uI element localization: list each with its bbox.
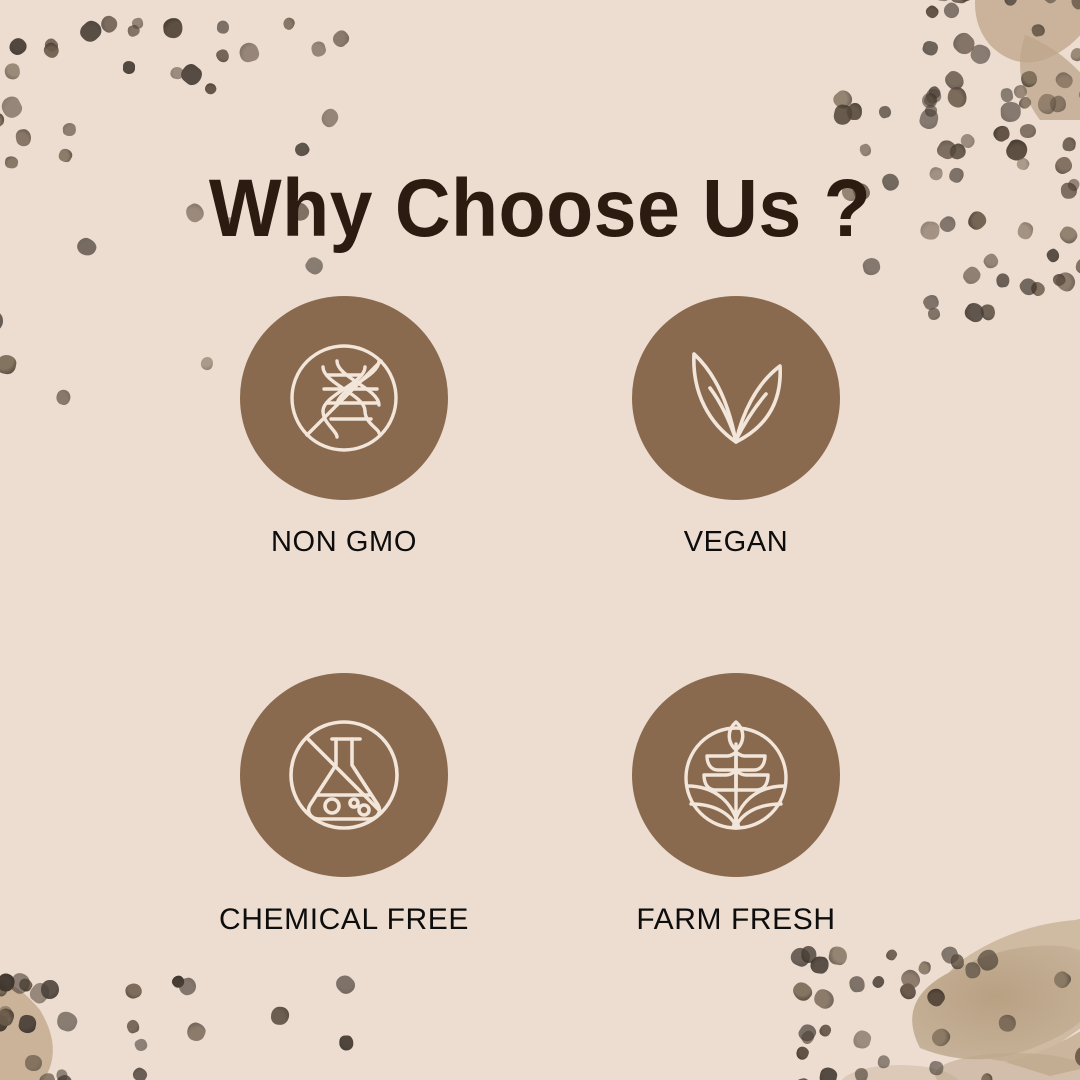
peppercorn [996,273,1010,288]
peppercorn [7,970,34,997]
feature-label-farm-fresh: FARM FRESH [636,903,835,937]
peppercorn [1003,136,1031,164]
peppercorn [1067,178,1080,193]
peppercorn [76,18,104,46]
peppercorn [293,140,312,158]
peppercorn [799,1028,816,1045]
peppercorn [1051,969,1073,991]
page-title: Why Choose Us ? [32,168,1047,250]
peppercorn [25,1054,43,1071]
peppercorn [123,981,144,1001]
peppercorn [810,956,829,975]
peppercorn [0,1006,13,1021]
peppercorn [332,972,357,997]
peppercorn [318,106,341,130]
peppercorn [948,0,969,4]
peppercorn [801,946,817,964]
peppercorn [853,1067,869,1080]
peppercorn [928,1059,945,1076]
peppercorn [862,257,882,277]
peppercorn [0,1054,1,1071]
peppercorn [1002,0,1018,7]
peppercorn [1048,93,1069,114]
peppercorn [54,1009,79,1034]
peppercorn [0,1006,16,1028]
peppercorn [876,1054,891,1070]
peppercorn [981,251,1000,270]
peppercorn [238,41,261,64]
peppercorn [947,141,967,161]
peppercorn [919,108,941,131]
peppercorn [959,132,978,151]
peppercorn [340,1035,354,1050]
peppercorn [203,81,219,97]
peppercorn [123,61,136,74]
peppercorn [162,17,183,39]
peppercorn [973,946,1001,974]
peppercorn [170,66,185,81]
peppercorn [184,1021,207,1044]
peppercorn [796,1022,818,1045]
peppercorn [303,255,326,277]
peppercorn [125,1018,141,1035]
peppercorn [918,960,932,975]
peppercorn [832,104,853,127]
badge-non-gmo [240,296,448,500]
peppercorn [131,1066,149,1080]
peppercorn [1012,83,1029,101]
feature-label-chemical-free: CHEMICAL FREE [219,903,469,937]
peppercorn [951,954,965,969]
peppercorn [946,86,968,109]
peppercorn [939,945,960,966]
peppercorn [851,1029,872,1051]
peppercorn [847,103,862,120]
peppercorn [1042,0,1061,6]
peppercorn [924,87,943,105]
feature-row-1: NON GMO VEGAN [0,296,1080,559]
peppercorn [1072,1045,1080,1071]
feature-label-vegan: VEGAN [684,526,789,559]
feature-farm-fresh[interactable]: FARM FRESH [630,673,842,937]
peppercorn [965,962,982,979]
peppercorn [991,124,1012,145]
peppercorn [885,947,899,962]
peppercorn [1052,155,1075,178]
peppercorn [57,147,75,165]
peppercorn [1070,47,1080,62]
feature-row-2: CHEMICAL FREE [0,673,1080,937]
peppercorn [217,20,230,34]
wheat-field-icon [669,708,803,842]
peppercorn [54,1073,73,1080]
two-leaves-icon [670,332,802,464]
peppercorn [43,37,60,54]
peppercorn [929,1026,953,1050]
peppercorn [831,87,856,112]
peppercorn [789,979,814,1004]
peppercorn [133,1037,149,1053]
wooden-spoon-top-right [930,0,1080,120]
peppercorn [878,104,893,119]
why-choose-us-poster: Why Choose Us ? [0,0,1080,1080]
wooden-spoon-bottom-left [0,940,80,1080]
peppercorn [899,966,924,991]
peppercorn [927,85,943,101]
peppercorn [3,62,21,81]
no-gmo-dna-icon [279,333,409,463]
peppercorn [0,1013,11,1034]
peppercorn [922,91,939,108]
peppercorn [1018,68,1039,89]
peppercorn [924,986,948,1010]
badge-vegan [632,296,840,500]
peppercorn [41,980,60,1000]
peppercorn [131,17,144,30]
feature-vegan[interactable]: VEGAN [630,296,842,559]
feature-grid: NON GMO VEGAN [0,296,1080,937]
peppercorn [0,112,5,128]
peppercorn [6,35,29,58]
badge-farm-fresh [632,673,840,877]
peppercorn [26,980,53,1007]
peppercorn [271,1006,290,1025]
badge-chemical-free [240,673,448,877]
peppercorn [17,977,35,994]
peppercorn [979,1072,994,1080]
peppercorn [1053,269,1079,295]
feature-non-gmo[interactable]: NON GMO [238,296,450,559]
peppercorn [4,155,19,169]
peppercorn [37,1072,56,1080]
peppercorn [310,40,328,58]
peppercorn [818,1067,838,1080]
peppercorn [898,981,918,1001]
peppercorn [871,974,887,990]
peppercorn [126,23,141,37]
peppercorn [330,27,353,49]
peppercorn [922,92,937,107]
peppercorn [63,122,77,136]
peppercorn [924,104,939,119]
feature-chemical-free[interactable]: CHEMICAL FREE [238,673,450,937]
peppercorn [997,1013,1016,1032]
peppercorn [934,0,952,2]
peppercorn [15,128,33,147]
peppercorn [788,945,813,969]
peppercorn [949,29,978,58]
peppercorn [0,981,10,999]
peppercorn [1061,183,1077,199]
peppercorn [794,1045,810,1061]
peppercorn [0,973,15,991]
peppercorn [968,42,992,66]
peppercorn [281,16,296,32]
peppercorn [1057,224,1080,247]
peppercorn [935,138,959,162]
peppercorn [924,4,941,21]
peppercorn [1037,93,1058,115]
peppercorn [178,61,205,88]
peppercorn [941,0,962,21]
peppercorn [1017,94,1033,110]
peppercorn [55,1068,69,1080]
peppercorn [170,974,187,991]
peppercorn [999,87,1014,103]
peppercorn [0,56,3,75]
peppercorn [1050,271,1067,288]
peppercorn [1075,257,1080,275]
peppercorn [817,1023,833,1039]
peppercorn [1019,123,1037,139]
peppercorn [959,0,973,2]
peppercorn [1001,101,1021,122]
feature-label-non-gmo: NON GMO [271,526,417,559]
peppercorn [1062,136,1077,152]
peppercorn [1070,0,1080,11]
peppercorn [941,68,967,94]
peppercorn [98,13,120,35]
peppercorn [960,264,983,286]
peppercorn [1054,70,1076,92]
peppercorn [921,39,939,57]
peppercorn [1030,24,1044,38]
peppercorn [214,48,231,66]
peppercorn [41,39,62,60]
peppercorn [849,976,865,994]
no-chemical-flask-icon [278,709,410,841]
peppercorn [811,986,837,1012]
peppercorn [17,1014,37,1035]
peppercorn [0,94,25,121]
peppercorn [858,142,873,157]
peppercorn [828,945,849,966]
peppercorn [178,977,199,998]
